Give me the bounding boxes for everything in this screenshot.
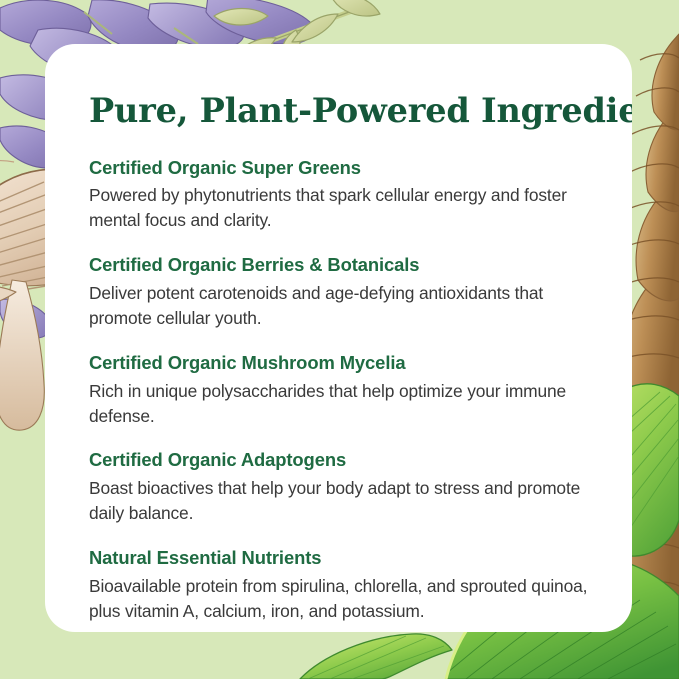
ingredients-card: Pure, Plant-Powered Ingredients Certifie… (45, 44, 632, 632)
list-item: Certified Organic Mushroom Mycelia Rich … (89, 351, 588, 429)
list-item: Natural Essential Nutrients Bioavailable… (89, 546, 588, 624)
list-item: Certified Organic Adaptogens Boast bioac… (89, 448, 588, 526)
product-ingredient-panel: Pure, Plant-Powered Ingredients Certifie… (0, 0, 679, 679)
list-item: Certified Organic Super Greens Powered b… (89, 156, 588, 234)
ingredient-name: Certified Organic Mushroom Mycelia (89, 351, 588, 376)
ingredient-name: Certified Organic Adaptogens (89, 448, 588, 473)
ingredient-name: Certified Organic Super Greens (89, 156, 588, 181)
ingredient-description: Bioavailable protein from spirulina, chl… (89, 574, 588, 624)
ingredient-name: Natural Essential Nutrients (89, 546, 588, 571)
list-item: Certified Organic Berries & Botanicals D… (89, 253, 588, 331)
page-title: Pure, Plant-Powered Ingredients (89, 92, 588, 130)
ingredient-description: Deliver potent carotenoids and age-defyi… (89, 281, 588, 331)
ingredient-description: Rich in unique polysaccharides that help… (89, 379, 588, 429)
ingredient-name: Certified Organic Berries & Botanicals (89, 253, 588, 278)
ingredient-list: Certified Organic Super Greens Powered b… (89, 156, 588, 624)
ingredient-description: Powered by phytonutrients that spark cel… (89, 183, 588, 233)
ingredient-description: Boast bioactives that help your body ada… (89, 476, 588, 526)
